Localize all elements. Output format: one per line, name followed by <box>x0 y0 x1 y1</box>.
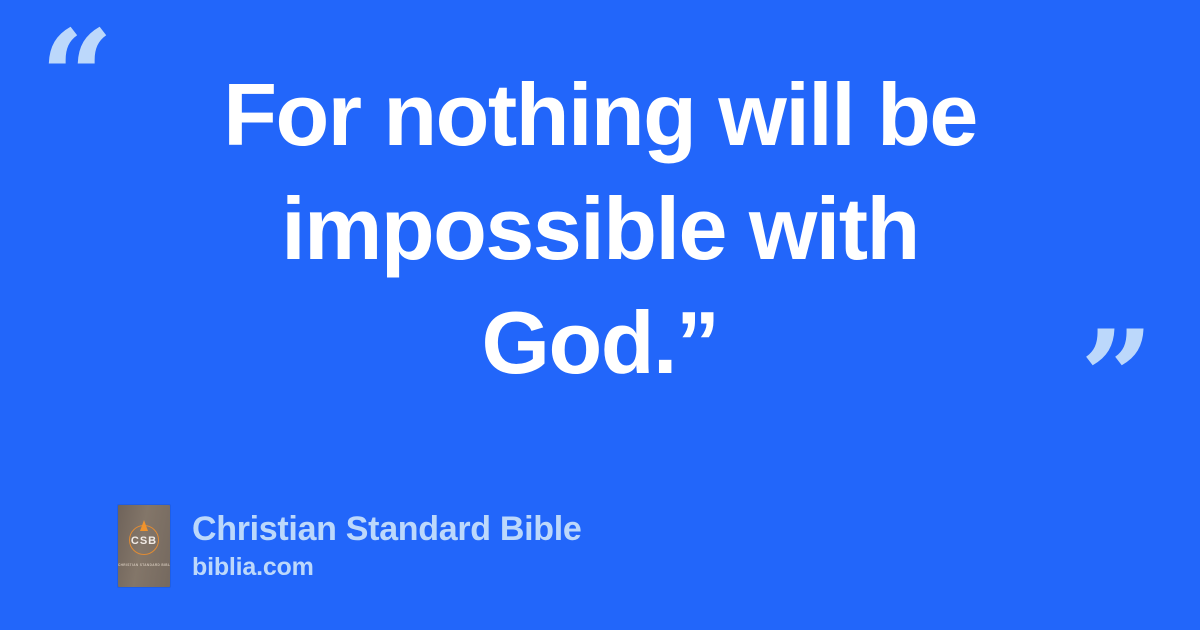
quote-text-block: For nothing will be impossible with God.… <box>0 58 1200 400</box>
source-title: Christian Standard Bible <box>192 509 582 549</box>
decorative-close-quote-icon: ” <box>1080 314 1152 442</box>
attribution: CSB CHRISTIAN STANDARD BIBLE Christian S… <box>118 505 582 587</box>
book-cover-initials: CSB <box>118 535 170 547</box>
quote-line-1: For nothing will be <box>0 58 1200 172</box>
emblem-flame-icon <box>140 520 148 531</box>
book-cover-thumbnail: CSB CHRISTIAN STANDARD BIBLE <box>118 505 170 587</box>
book-cover-subtitle: CHRISTIAN STANDARD BIBLE <box>118 563 170 568</box>
attribution-text: Christian Standard Bible biblia.com <box>192 509 582 583</box>
source-site-link[interactable]: biblia.com <box>192 551 582 583</box>
quote-card: “ For nothing will be impossible with Go… <box>0 0 1200 630</box>
quote-line-3: God.” <box>0 286 1200 400</box>
quote-line-2: impossible with <box>0 172 1200 286</box>
